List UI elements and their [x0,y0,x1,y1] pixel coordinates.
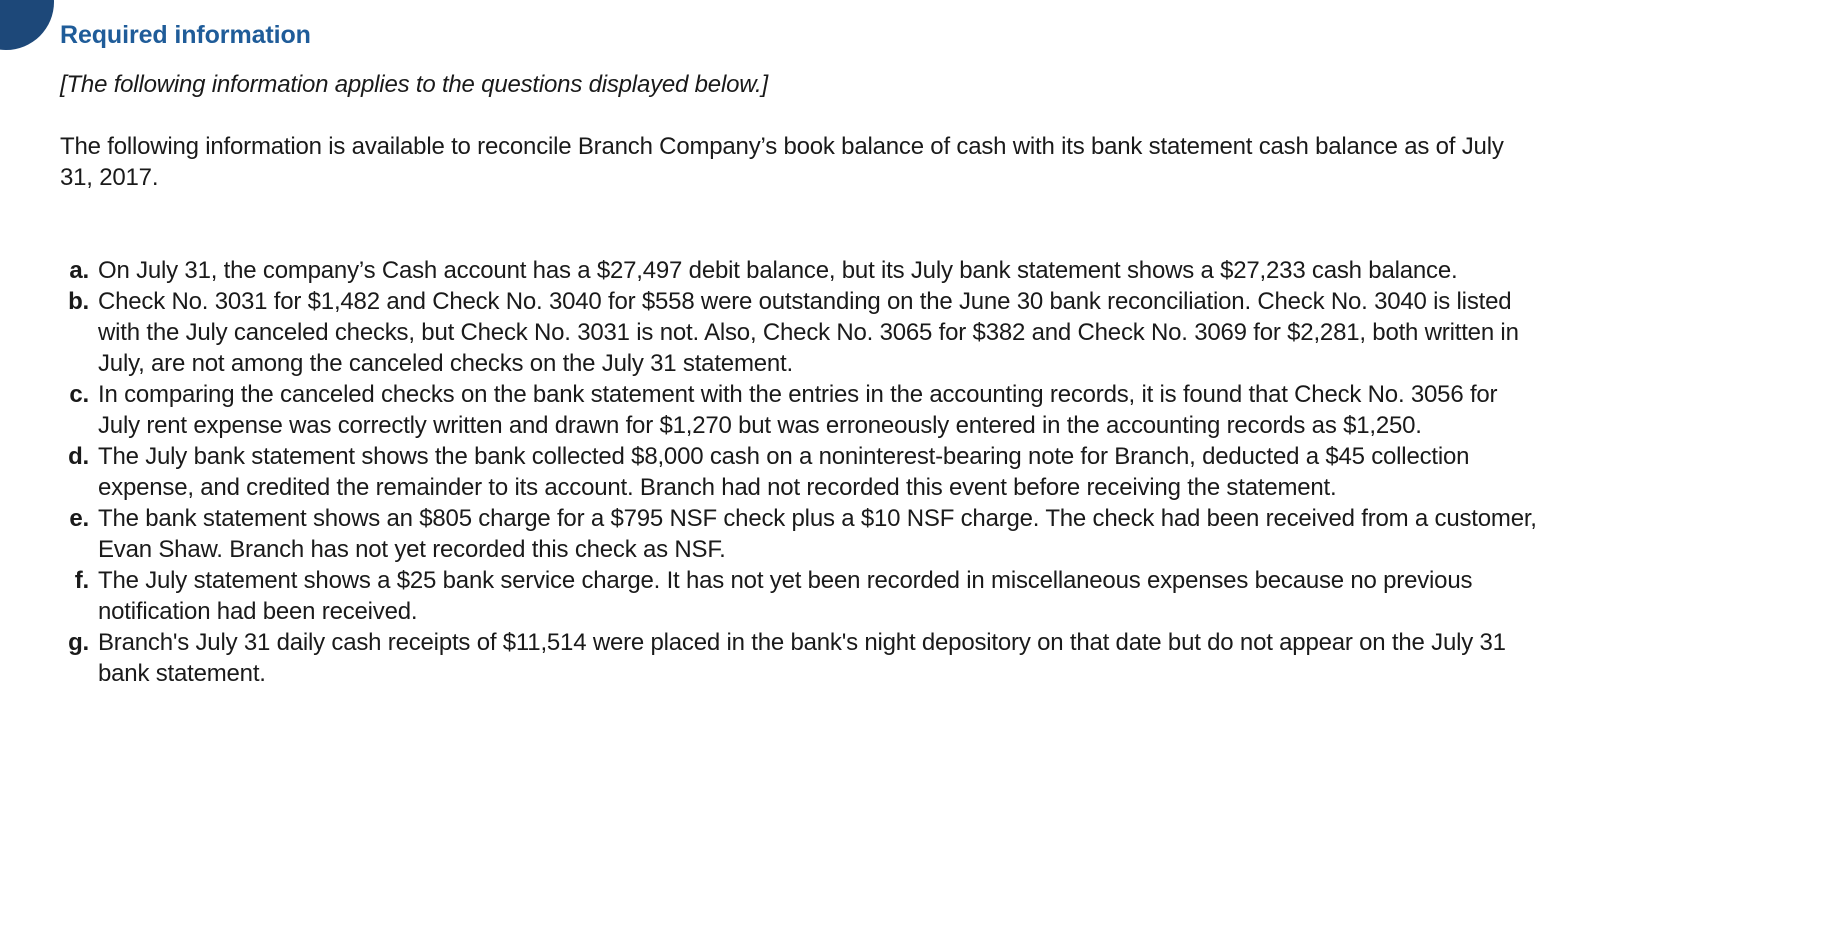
question-page: Required information [The following info… [0,0,1824,952]
information-items-list: a. On July 31, the company’s Cash accoun… [60,193,1540,689]
list-item-marker: f. [60,565,98,596]
list-item-marker: d. [60,441,98,472]
list-item: d. The July bank statement shows the ban… [60,441,1540,503]
list-item-text: Branch's July 31 daily cash receipts of … [98,627,1538,689]
list-item: b. Check No. 3031 for $1,482 and Check N… [60,286,1540,379]
list-item: e. The bank statement shows an $805 char… [60,503,1540,565]
list-item: g. Branch's July 31 daily cash receipts … [60,627,1540,689]
list-item: f. The July statement shows a $25 bank s… [60,565,1540,627]
list-item-text: In comparing the canceled checks on the … [98,379,1538,441]
list-item-text: The bank statement shows an $805 charge … [98,503,1538,565]
applies-to-note: [The following information applies to th… [60,50,1540,100]
list-item-text: The July bank statement shows the bank c… [98,441,1538,503]
list-item-text: Check No. 3031 for $1,482 and Check No. … [98,286,1538,379]
list-item: a. On July 31, the company’s Cash accoun… [60,255,1540,286]
content-column: Required information [The following info… [60,0,1540,689]
list-item-marker: c. [60,379,98,410]
list-item: c. In comparing the canceled checks on t… [60,379,1540,441]
page-title: Required information [60,0,1540,50]
list-item-text: On July 31, the company’s Cash account h… [98,255,1538,286]
list-item-marker: a. [60,255,98,286]
list-item-text: The July statement shows a $25 bank serv… [98,565,1538,627]
corner-decoration-badge-icon [0,0,54,50]
list-item-marker: e. [60,503,98,534]
intro-paragraph: The following information is available t… [60,100,1512,193]
list-item-marker: b. [60,286,98,317]
list-item-marker: g. [60,627,98,658]
